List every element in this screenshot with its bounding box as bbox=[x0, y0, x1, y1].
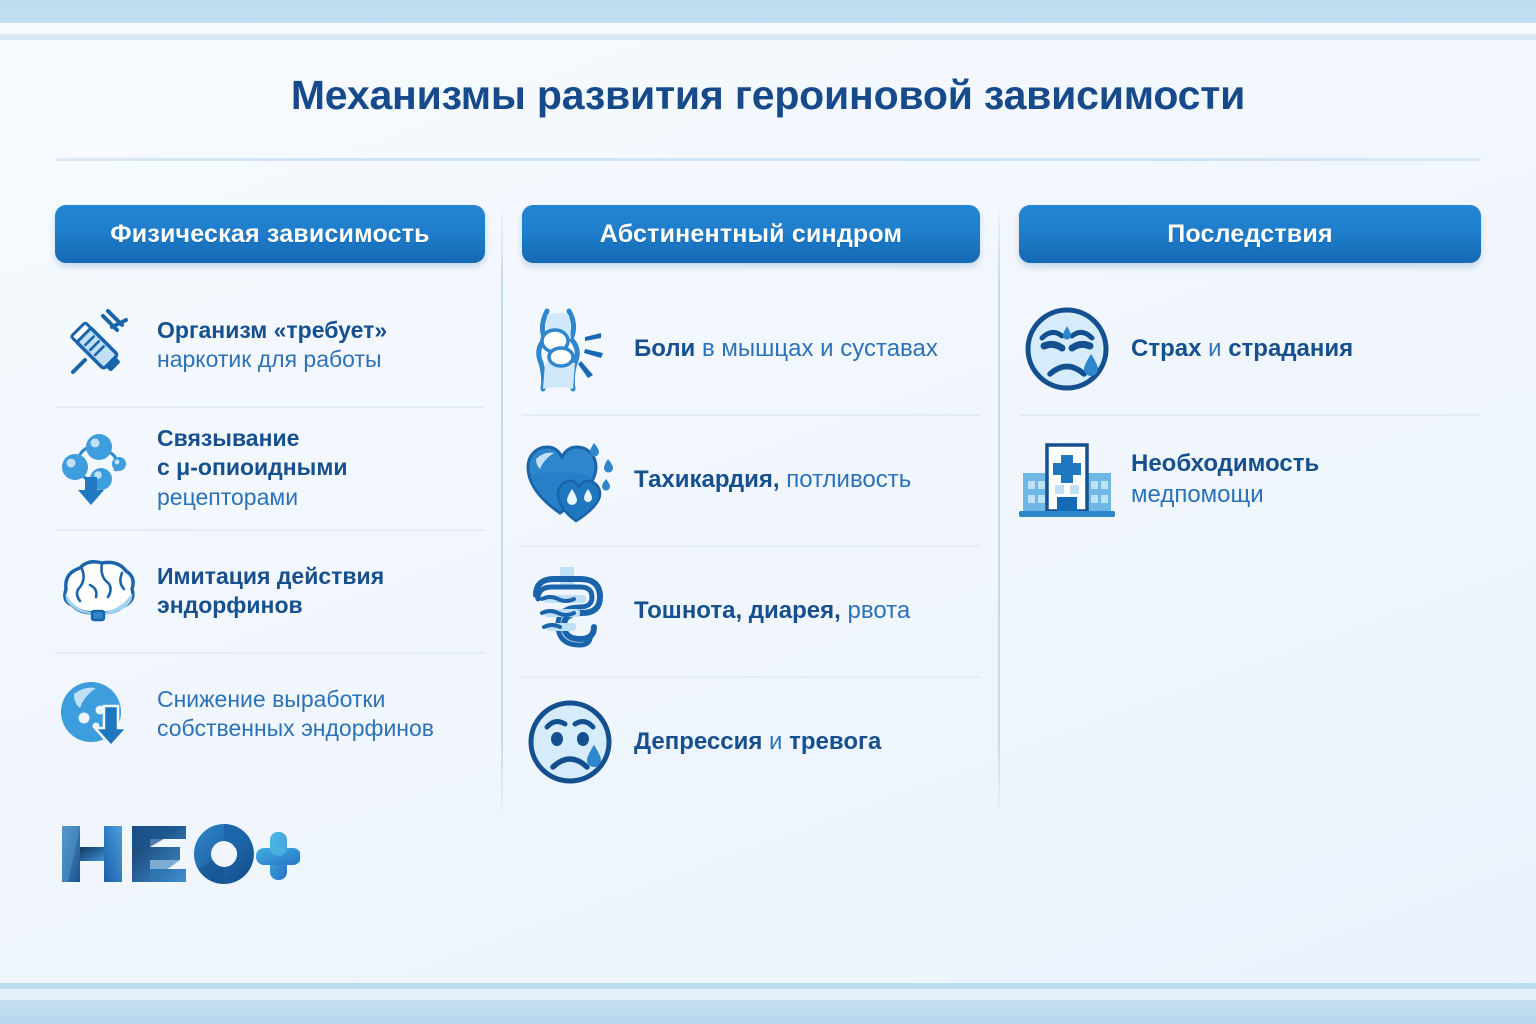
list-item[interactable]: Организм «требует» наркотик для работы bbox=[55, 285, 485, 408]
top-gap bbox=[0, 23, 1536, 34]
cell-down-arrow-icon bbox=[55, 671, 141, 757]
brain-icon bbox=[55, 548, 141, 634]
list-item-text: Организм «требует» наркотик для работы bbox=[157, 316, 387, 375]
list-item-line: собственных эндорфинов bbox=[157, 714, 434, 743]
column-consequences: Последствия bbox=[1019, 205, 1481, 545]
list-item-line: рецепторами bbox=[157, 483, 347, 512]
top-band bbox=[0, 0, 1536, 23]
list-item-line: Тошнота, диарея, bbox=[634, 597, 841, 624]
list-item[interactable]: Тахикардия, потливость bbox=[522, 416, 980, 547]
list-item[interactable]: Депрессия и тревога bbox=[522, 678, 980, 807]
list-item-line-tail2: тревога bbox=[789, 728, 881, 755]
list-item-line-tail: и bbox=[1201, 335, 1228, 362]
column-separator-1 bbox=[501, 210, 503, 810]
list-item-line: Связывание bbox=[157, 424, 347, 453]
list-item-line: медпомощи bbox=[1131, 480, 1319, 511]
list-item-text: Связывание с μ-опиоидными рецепторами bbox=[157, 424, 347, 512]
list-item-line: с μ-опиоидными bbox=[157, 453, 347, 482]
column-header-physical-dependence[interactable]: Физическая зависимость bbox=[55, 205, 485, 263]
heart-sweat-icon bbox=[522, 432, 618, 528]
list-item-line: Боли bbox=[634, 335, 695, 362]
list-item-line: Организм «требует» bbox=[157, 316, 387, 345]
list-item-line: эндорфинов bbox=[157, 591, 384, 620]
list-item[interactable]: Снижение выработки собственных эндорфино… bbox=[55, 654, 485, 775]
list-item-line-tail: потливость bbox=[780, 466, 912, 493]
columns-area: Физическая зависимость bbox=[0, 205, 1536, 825]
column-withdrawal-syndrome: Абстинентный синдром bbox=[522, 205, 980, 807]
list-item[interactable]: Тошнота, диарея, рвота bbox=[522, 547, 980, 678]
hospital-icon bbox=[1019, 432, 1115, 528]
list-item[interactable]: Страх и страдания bbox=[1019, 285, 1481, 416]
page-title: Механизмы развития героиновой зависимост… bbox=[0, 72, 1536, 119]
list-item-line-tail: в мышцах и суставах bbox=[695, 335, 938, 362]
list-item-line: Снижение выработки bbox=[157, 685, 434, 714]
syringe-icon bbox=[55, 302, 141, 388]
bottom-band bbox=[0, 1000, 1536, 1024]
list-item-line-tail: и bbox=[762, 728, 789, 755]
list-item-text: Боли в мышцах и суставах bbox=[634, 334, 938, 365]
worried-face-tear-icon bbox=[1019, 301, 1115, 397]
list-item-line: Имитация действия bbox=[157, 562, 384, 591]
list-item-line: наркотик для работы bbox=[157, 345, 387, 374]
list-item-line-tail2: страдания bbox=[1228, 335, 1353, 362]
list-item-line: Страх bbox=[1131, 335, 1201, 362]
infographic-page: Механизмы развития героиновой зависимост… bbox=[0, 0, 1536, 1024]
intestine-icon bbox=[522, 563, 618, 659]
sad-face-tear-icon bbox=[522, 694, 618, 790]
list-item-text: Страх и страдания bbox=[1131, 334, 1353, 365]
bottom-gap bbox=[0, 989, 1536, 1000]
list-item-text: Снижение выработки собственных эндорфино… bbox=[157, 685, 434, 744]
joint-pain-icon bbox=[522, 301, 618, 397]
top-rule bbox=[0, 34, 1536, 40]
list-item-text: Тошнота, диарея, рвота bbox=[634, 596, 910, 627]
column-header-consequences[interactable]: Последствия bbox=[1019, 205, 1481, 263]
list-item[interactable]: Связывание с μ-опиоидными рецепторами bbox=[55, 408, 485, 531]
molecule-receptor-icon bbox=[55, 425, 141, 511]
item-list-physical-dependence: Организм «требует» наркотик для работы bbox=[55, 285, 485, 775]
list-item-line: Депрессия bbox=[634, 728, 762, 755]
list-item-line: Необходимость bbox=[1131, 449, 1319, 480]
item-list-consequences: Страх и страдания bbox=[1019, 285, 1481, 545]
column-header-withdrawal-syndrome[interactable]: Абстинентный синдром bbox=[522, 205, 980, 263]
title-divider bbox=[55, 158, 1481, 161]
list-item-line-tail: рвота bbox=[841, 597, 910, 624]
column-separator-2 bbox=[998, 210, 1000, 810]
list-item[interactable]: Необходимость медпомощи bbox=[1019, 416, 1481, 545]
list-item[interactable]: Боли в мышцах и суставах bbox=[522, 285, 980, 416]
list-item-text: Депрессия и тревога bbox=[634, 727, 881, 758]
list-item-text: Необходимость медпомощи bbox=[1131, 449, 1319, 510]
list-item-line: Тахикардия, bbox=[634, 466, 780, 493]
list-item-text: Имитация действия эндорфинов bbox=[157, 562, 384, 621]
column-physical-dependence: Физическая зависимость bbox=[55, 205, 485, 775]
list-item-text: Тахикардия, потливость bbox=[634, 465, 911, 496]
list-item[interactable]: Имитация действия эндорфинов bbox=[55, 531, 485, 654]
neo-plus-logo[interactable] bbox=[60, 818, 300, 890]
item-list-withdrawal-syndrome: Боли в мышцах и суставах bbox=[522, 285, 980, 807]
